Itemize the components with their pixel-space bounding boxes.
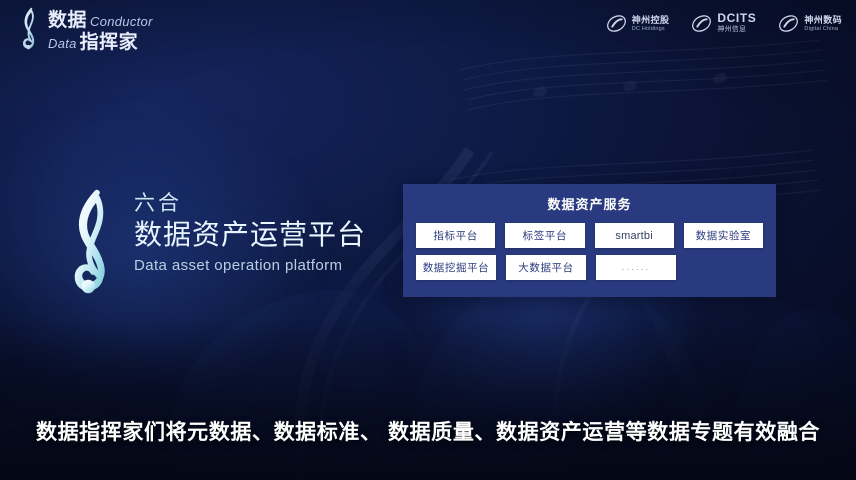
partner-name-en: DC Holdings xyxy=(632,26,670,32)
partner-logo-group: 神州控股 DC Holdings DCITS 神州信息 神州数码 Digital… xyxy=(606,12,842,34)
service-card-row: 数据挖掘平台 大数据平台 ...... xyxy=(416,255,763,280)
brand-line1-en: Conductor xyxy=(90,15,153,28)
platform-small-title: 六合 xyxy=(134,192,366,215)
platform-main-title: 数据资产运营平台 xyxy=(134,217,366,252)
treble-clef-icon xyxy=(66,188,124,296)
platform-title-block: 六合 数据资产运营平台 Data asset operation platfor… xyxy=(66,186,366,296)
brand-logo[interactable]: 数据 Conductor Data 指挥家 xyxy=(16,6,153,54)
swirl-mark-icon xyxy=(606,13,627,34)
service-card-data-lab[interactable]: 数据实验室 xyxy=(684,223,763,248)
partner-name-cn: 神州数码 xyxy=(804,15,842,25)
service-card-more[interactable]: ...... xyxy=(596,255,676,280)
service-card-row: 指标平台 标签平台 smartbi 数据实验室 xyxy=(416,223,763,248)
brand-wordmark: 数据 Conductor Data 指挥家 xyxy=(48,9,153,52)
slide-root: 数据 Conductor Data 指挥家 神州控股 DC Holdings xyxy=(0,0,856,480)
partner-logo-dc-holdings[interactable]: 神州控股 DC Holdings xyxy=(606,13,670,34)
slide-caption: 数据指挥家们将元数据、数据标准、 数据质量、数据资产运营等数据专题有效融合 xyxy=(0,416,856,446)
platform-subtitle-en: Data asset operation platform xyxy=(134,257,366,274)
partner-name-cn: DCITS xyxy=(717,12,756,25)
service-card-tag-platform[interactable]: 标签平台 xyxy=(505,223,584,248)
partner-name-en: Digital China xyxy=(804,26,842,32)
service-card-grid: 指标平台 标签平台 smartbi 数据实验室 数据挖掘平台 大数据平台 ...… xyxy=(403,223,776,280)
partner-name-en: 神州信息 xyxy=(717,26,756,34)
swirl-mark-icon xyxy=(778,13,799,34)
partner-logo-digital-china[interactable]: 神州数码 Digital China xyxy=(778,13,842,34)
data-asset-service-panel: 数据资产服务 指标平台 标签平台 smartbi 数据实验室 数据挖掘平台 大数… xyxy=(403,184,776,297)
partner-name-cn: 神州控股 xyxy=(632,15,670,25)
brand-line1-cn: 数据 xyxy=(48,11,87,30)
brand-line2-cn: 指挥家 xyxy=(80,33,139,52)
partner-logo-dcits[interactable]: DCITS 神州信息 xyxy=(691,12,756,34)
treble-clef-icon xyxy=(16,7,46,53)
service-card-indicator-platform[interactable]: 指标平台 xyxy=(416,223,495,248)
service-card-data-mining-platform[interactable]: 数据挖掘平台 xyxy=(416,255,496,280)
brand-line2-en: Data xyxy=(48,37,77,50)
swirl-mark-icon xyxy=(691,13,712,34)
service-card-big-data-platform[interactable]: 大数据平台 xyxy=(506,255,586,280)
service-panel-title: 数据资产服务 xyxy=(403,194,776,213)
service-card-smartbi[interactable]: smartbi xyxy=(595,223,674,248)
